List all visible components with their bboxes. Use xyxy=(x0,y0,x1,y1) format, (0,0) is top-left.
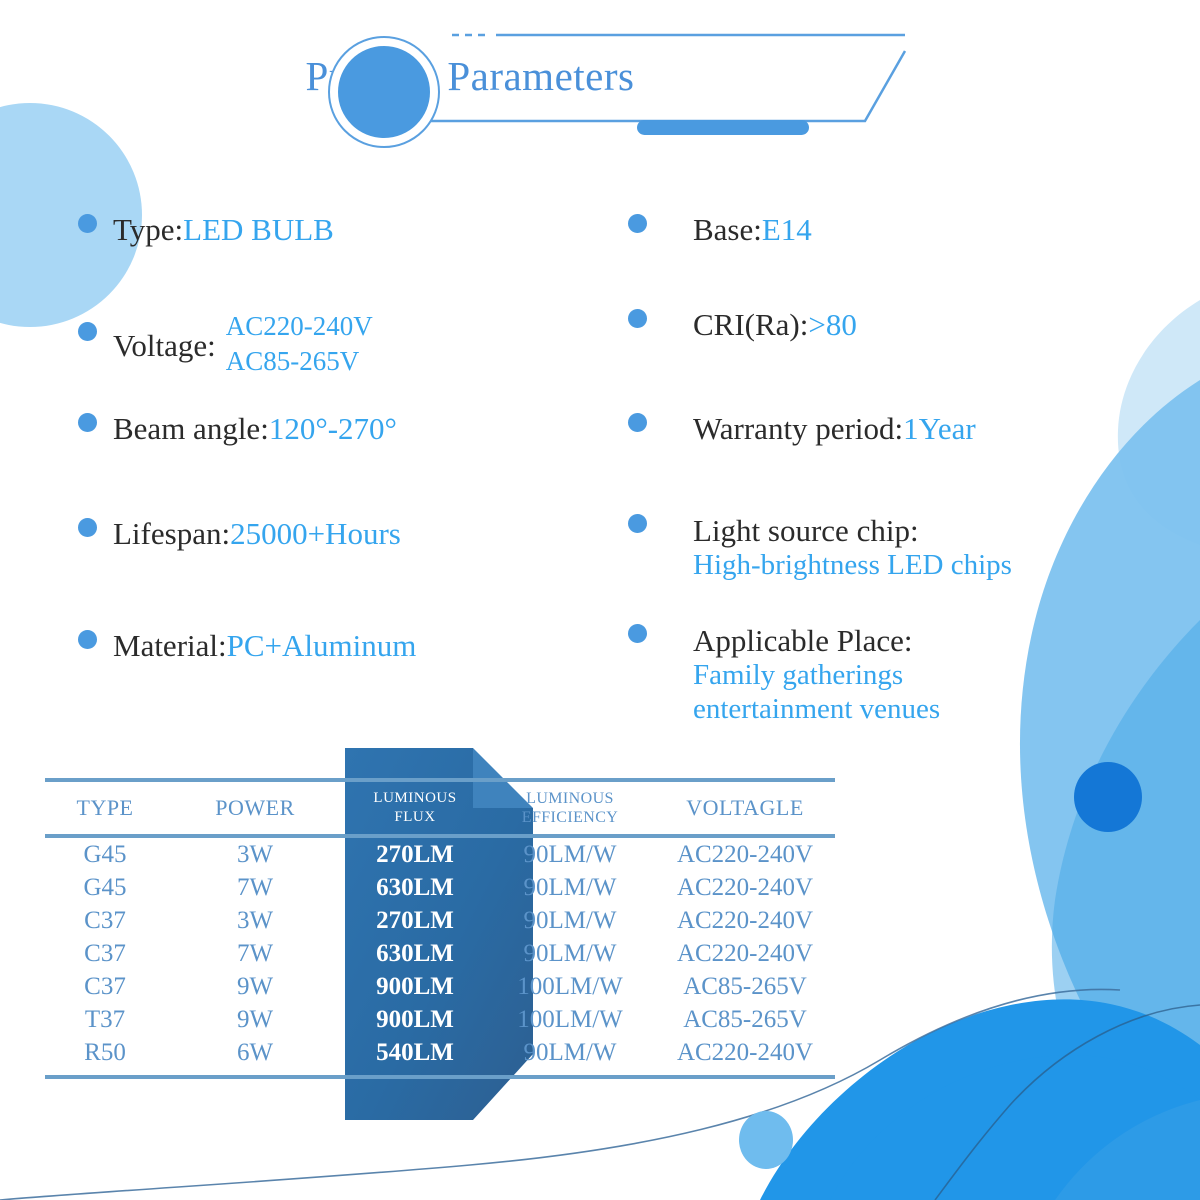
table-cell-type-value: C37 xyxy=(84,907,126,934)
column-header-luminous-efficiency: LUMINOUS EFFICIENCY xyxy=(485,782,655,834)
table-cell-type: C37 xyxy=(45,970,165,1003)
bullet-icon xyxy=(628,309,647,328)
spec-item-applicable-place: Applicable Place: Family gatherings ente… xyxy=(628,624,940,727)
spec-label: Applicable Place: xyxy=(693,624,940,659)
table-cell-voltage: AC220-240V xyxy=(655,904,835,937)
table-cell-luminous-efficiency: 90LM/W xyxy=(485,1036,655,1069)
header-circle-icon xyxy=(338,46,430,138)
header-label: TYPE xyxy=(77,795,134,820)
table-cell-type-value: R50 xyxy=(84,1039,126,1066)
table-row: C379W900LM100LM/WAC85-265V xyxy=(45,970,835,1003)
table-cell-luminous-efficiency: 90LM/W xyxy=(485,904,655,937)
table-cell-luminous-efficiency: 90LM/W xyxy=(485,937,655,970)
table-cell-voltage-value: AC220-240V xyxy=(677,907,813,934)
table-cell-power: 9W xyxy=(165,970,345,1003)
bullet-icon xyxy=(78,322,97,341)
spec-value-line-1: AC220-240V xyxy=(226,309,373,344)
table-cell-luminous-efficiency: 90LM/W xyxy=(485,871,655,904)
table-cell-luminous-efficiency-value: 90LM/W xyxy=(523,1039,616,1066)
table-cell-luminous-flux: 540LM xyxy=(345,1036,485,1069)
specification-table: TYPE POWER LUMINOUS FLUX LUMINOUS EFFICI… xyxy=(45,778,835,1079)
spec-value-line-1: Family gatherings xyxy=(693,659,940,693)
table-cell-power-value: 9W xyxy=(237,1006,273,1033)
parameters-table: TYPE POWER LUMINOUS FLUX LUMINOUS EFFICI… xyxy=(45,782,835,834)
table-cell-type-value: T37 xyxy=(85,1006,125,1033)
table-cell-power: 6W xyxy=(165,1036,345,1069)
bullet-icon xyxy=(628,413,647,432)
table-cell-voltage-value: AC85-265V xyxy=(683,973,807,1000)
table-header: TYPE POWER LUMINOUS FLUX LUMINOUS EFFICI… xyxy=(45,782,835,834)
table-cell-luminous-flux-value: 270LM xyxy=(376,907,454,934)
table-cell-voltage-value: AC85-265V xyxy=(683,1006,807,1033)
table-cell-type-value: G45 xyxy=(83,841,126,868)
parameters-table-body: G453W270LM90LM/WAC220-240VG457W630LM90LM… xyxy=(45,838,835,1069)
table-cell-luminous-flux: 900LM xyxy=(345,970,485,1003)
table-cell-type: G45 xyxy=(45,871,165,904)
spec-item-cri: CRI(Ra): >80 xyxy=(628,309,857,340)
spec-label: Light source chip: xyxy=(693,514,1012,549)
table-cell-voltage-value: AC220-240V xyxy=(677,874,813,901)
spec-value: LED BULB xyxy=(183,214,334,245)
table-row: C373W270LM90LM/WAC220-240V xyxy=(45,904,835,937)
header-label: POWER xyxy=(215,795,295,820)
table-cell-power-value: 7W xyxy=(237,940,273,967)
spec-value: >80 xyxy=(808,309,856,340)
table-cell-power-value: 9W xyxy=(237,973,273,1000)
header-label-line-2: FLUX xyxy=(345,808,485,827)
bullet-icon xyxy=(628,514,647,533)
bullet-icon xyxy=(78,630,97,649)
table-cell-luminous-efficiency-value: 90LM/W xyxy=(523,907,616,934)
table-cell-voltage-value: AC220-240V xyxy=(677,841,813,868)
spec-value: PC+Aluminum xyxy=(227,630,417,661)
table-cell-luminous-flux: 630LM xyxy=(345,937,485,970)
spec-label: Lifespan: xyxy=(113,518,230,549)
table-cell-luminous-flux-value: 630LM xyxy=(376,940,454,967)
table-body: G453W270LM90LM/WAC220-240VG457W630LM90LM… xyxy=(45,838,835,1069)
table-row: R506W540LM90LM/WAC220-240V xyxy=(45,1036,835,1069)
bullet-icon xyxy=(78,518,97,537)
table-cell-luminous-flux: 270LM xyxy=(345,838,485,871)
spec-value-line-2: AC85-265V xyxy=(226,344,373,379)
table-cell-power-value: 7W xyxy=(237,874,273,901)
table-cell-luminous-flux: 900LM xyxy=(345,1003,485,1036)
table-rule-bottom xyxy=(45,1075,835,1079)
column-header-type: TYPE xyxy=(45,782,165,834)
spec-label: Beam angle: xyxy=(113,413,269,444)
table-cell-power-value: 3W xyxy=(237,841,273,868)
table-cell-luminous-flux-value: 540LM xyxy=(376,1039,454,1066)
table-cell-voltage-value: AC220-240V xyxy=(677,1039,813,1066)
table-cell-luminous-efficiency-value: 90LM/W xyxy=(523,874,616,901)
bullet-icon xyxy=(78,413,97,432)
table-cell-luminous-efficiency: 90LM/W xyxy=(485,838,655,871)
column-header-power: POWER xyxy=(165,782,345,834)
table-cell-voltage: AC220-240V xyxy=(655,838,835,871)
header-label: VOLTAGLE xyxy=(686,795,804,820)
header-label-line-2: EFFICIENCY xyxy=(485,808,655,827)
spec-value-line-1: High-brightness LED chips xyxy=(693,549,1012,583)
header-label-line-1: LUMINOUS xyxy=(485,789,655,808)
spec-item-lifespan: Lifespan: 25000+Hours xyxy=(78,518,401,549)
table-cell-type-value: C37 xyxy=(84,973,126,1000)
table-cell-type-value: G45 xyxy=(83,874,126,901)
table-cell-luminous-efficiency-value: 90LM/W xyxy=(523,841,616,868)
table-cell-luminous-efficiency-value: 100LM/W xyxy=(517,1006,623,1033)
table-cell-luminous-flux-value: 630LM xyxy=(376,874,454,901)
spec-value-line-2: entertainment venues xyxy=(693,693,940,727)
spec-item-base: Base: E14 xyxy=(628,214,812,245)
spec-value: 25000+Hours xyxy=(230,518,401,549)
spec-label: Base: xyxy=(693,214,762,245)
table-cell-luminous-flux-value: 900LM xyxy=(376,973,454,1000)
table-cell-luminous-flux-value: 900LM xyxy=(376,1006,454,1033)
table-cell-power: 3W xyxy=(165,838,345,871)
spec-label: Voltage: xyxy=(113,330,216,361)
table-header-row: TYPE POWER LUMINOUS FLUX LUMINOUS EFFICI… xyxy=(45,782,835,834)
column-header-luminous-flux: LUMINOUS FLUX xyxy=(345,782,485,834)
spec-item-material: Material: PC+Aluminum xyxy=(78,630,416,661)
table-row: G453W270LM90LM/WAC220-240V xyxy=(45,838,835,871)
table-cell-luminous-flux: 270LM xyxy=(345,904,485,937)
table-cell-luminous-flux-value: 270LM xyxy=(376,841,454,868)
table-cell-luminous-flux: 630LM xyxy=(345,871,485,904)
spec-value: E14 xyxy=(762,214,812,245)
table-cell-power: 9W xyxy=(165,1003,345,1036)
table-cell-voltage: AC220-240V xyxy=(655,871,835,904)
table-cell-type: C37 xyxy=(45,904,165,937)
bullet-icon xyxy=(628,624,647,643)
spec-label: Type: xyxy=(113,214,183,245)
spec-item-warranty: Warranty period: 1Year xyxy=(628,413,976,444)
header-label-line-1: LUMINOUS xyxy=(345,789,485,808)
table-cell-type: R50 xyxy=(45,1036,165,1069)
spec-item-light-source-chip: Light source chip: High-brightness LED c… xyxy=(628,514,1012,583)
table-row: G457W630LM90LM/WAC220-240V xyxy=(45,871,835,904)
table-row: T379W900LM100LM/WAC85-265V xyxy=(45,1003,835,1036)
table-cell-luminous-efficiency: 100LM/W xyxy=(485,970,655,1003)
spec-label: CRI(Ra): xyxy=(693,309,808,340)
table-cell-power: 7W xyxy=(165,937,345,970)
table-cell-voltage: AC220-240V xyxy=(655,937,835,970)
table-cell-voltage: AC85-265V xyxy=(655,970,835,1003)
table-row: C377W630LM90LM/WAC220-240V xyxy=(45,937,835,970)
table-cell-voltage: AC85-265V xyxy=(655,1003,835,1036)
bullet-icon xyxy=(628,214,647,233)
decor-dot-blue xyxy=(1074,762,1142,832)
spec-value: 120°-270° xyxy=(269,413,397,444)
table-cell-voltage: AC220-240V xyxy=(655,1036,835,1069)
table-cell-voltage-value: AC220-240V xyxy=(677,940,813,967)
decor-dot-light xyxy=(739,1111,793,1169)
header-accent-pill xyxy=(637,120,809,135)
spec-label: Material: xyxy=(113,630,227,661)
spec-label: Warranty period: xyxy=(693,413,903,444)
table-cell-type: G45 xyxy=(45,838,165,871)
spec-value: 1Year xyxy=(903,413,976,444)
spec-item-beam-angle: Beam angle: 120°-270° xyxy=(78,413,397,444)
table-cell-luminous-efficiency: 100LM/W xyxy=(485,1003,655,1036)
table-cell-power-value: 6W xyxy=(237,1039,273,1066)
table-cell-power-value: 3W xyxy=(237,907,273,934)
table-cell-luminous-efficiency-value: 90LM/W xyxy=(523,940,616,967)
bullet-icon xyxy=(78,214,97,233)
table-cell-type-value: C37 xyxy=(84,940,126,967)
table-cell-type: C37 xyxy=(45,937,165,970)
table-cell-type: T37 xyxy=(45,1003,165,1036)
table-cell-power: 7W xyxy=(165,871,345,904)
column-header-voltage: VOLTAGLE xyxy=(655,782,835,834)
table-cell-power: 3W xyxy=(165,904,345,937)
table-cell-luminous-efficiency-value: 100LM/W xyxy=(517,973,623,1000)
spec-item-type: Type: LED BULB xyxy=(78,214,334,245)
spec-item-voltage: Voltage: AC220-240V AC85-265V xyxy=(78,309,373,378)
